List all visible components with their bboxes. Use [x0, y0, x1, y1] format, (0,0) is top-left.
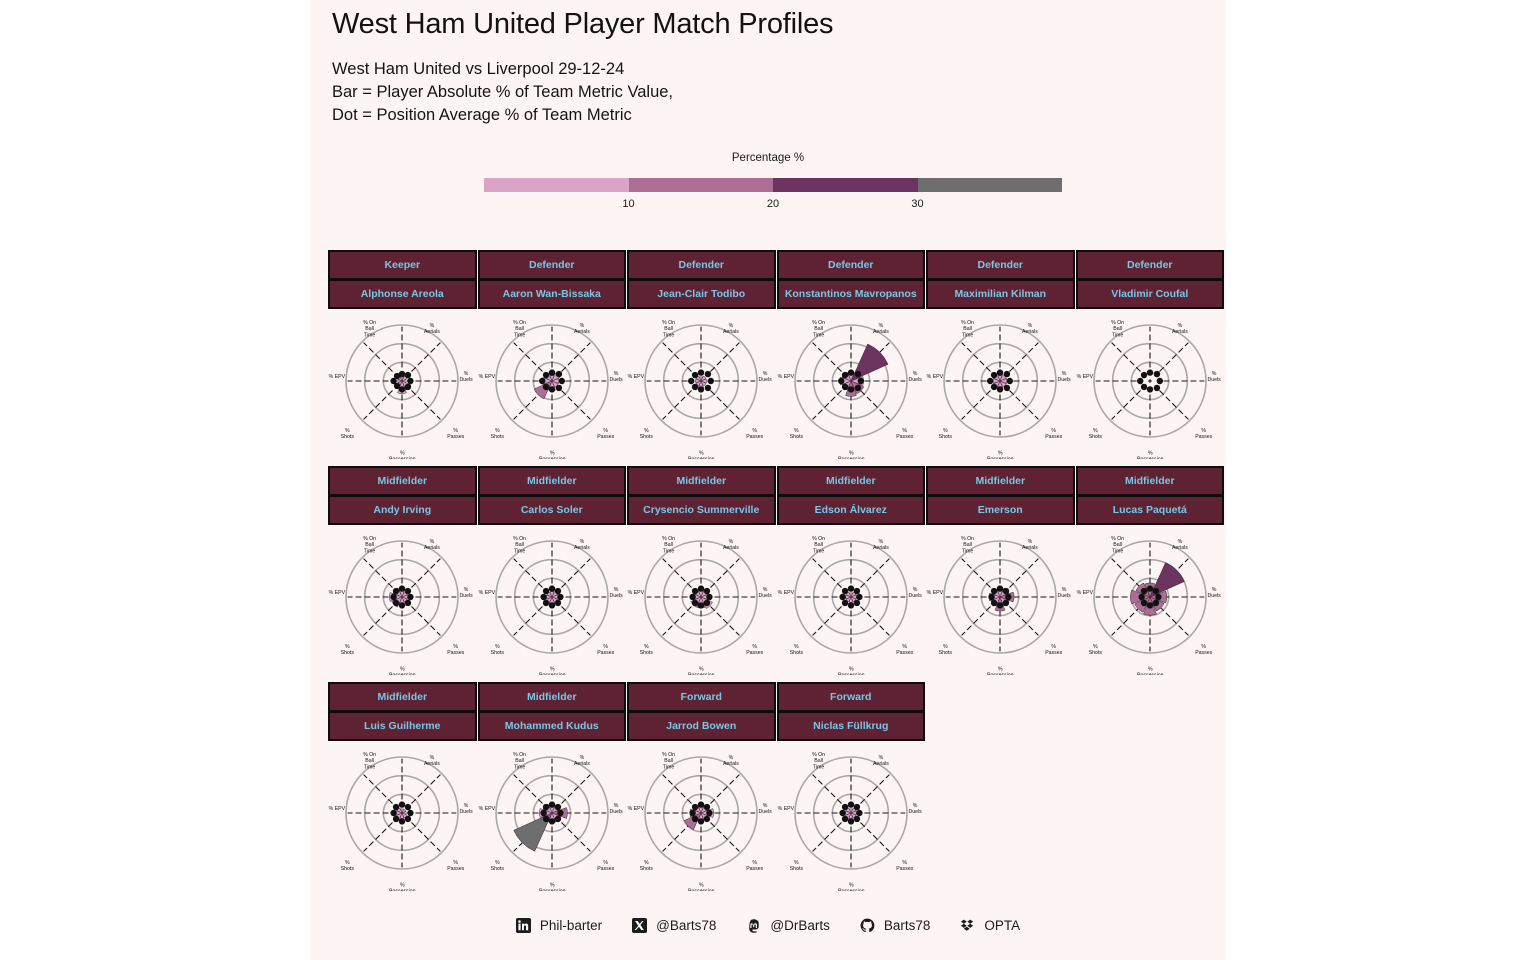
svg-text:% EPV: % EPV	[777, 806, 794, 812]
svg-text:Shots: Shots	[939, 650, 953, 656]
colorbar-tick-label: 20	[767, 198, 779, 210]
svg-text:% EPV: % EPV	[329, 590, 346, 596]
svg-text:Shots: Shots	[490, 650, 504, 656]
svg-text:Possession: Possession	[838, 457, 865, 459]
footer-item-label: @Barts78	[656, 918, 716, 933]
player-card-header: MidfielderAndy Irving	[328, 466, 477, 525]
svg-text:Aerials: Aerials	[723, 545, 739, 551]
svg-text:Aerials: Aerials	[872, 545, 888, 551]
svg-text:%: %	[1147, 451, 1152, 457]
svg-text:%: %	[699, 451, 704, 457]
svg-text:% On: % On	[662, 320, 675, 326]
svg-text:Possession: Possession	[688, 889, 715, 891]
player-card-header: ForwardJarrod Bowen	[627, 682, 776, 741]
svg-text:%: %	[1062, 587, 1067, 593]
svg-text:%: %	[430, 539, 435, 545]
page-subtitle: West Ham United vs Liverpool 29-12-24 Ba…	[332, 58, 673, 127]
svg-text:Time: Time	[663, 764, 674, 770]
svg-text:% EPV: % EPV	[329, 374, 346, 380]
svg-text:% EPV: % EPV	[1076, 590, 1093, 596]
svg-text:Ball: Ball	[814, 758, 823, 764]
svg-text:Shots: Shots	[341, 650, 355, 656]
svg-text:Passes: Passes	[597, 434, 614, 440]
svg-text:Ball: Ball	[365, 542, 374, 548]
footer-item[interactable]: OPTA	[960, 918, 1020, 933]
svg-text:Shots: Shots	[341, 866, 355, 872]
svg-text:%: %	[848, 883, 853, 889]
svg-text:% On: % On	[513, 752, 526, 758]
colorbar-segment-0	[484, 178, 629, 192]
player-position-label: Midfielder	[1078, 468, 1223, 497]
svg-text:%: %	[430, 323, 435, 329]
svg-text:Possession: Possession	[389, 457, 416, 459]
player-radar-chart: % OnBallTime%Aerials%Duels%Passes%Posses…	[478, 525, 627, 675]
svg-text:Shots: Shots	[640, 434, 654, 440]
svg-text:%: %	[878, 755, 883, 761]
svg-text:Aerials: Aerials	[573, 329, 589, 335]
player-card-header: MidfielderLucas Paquetá	[1076, 466, 1225, 525]
svg-text:% On: % On	[812, 320, 825, 326]
svg-text:Duels: Duels	[758, 593, 772, 599]
colorbar-tick-label: 30	[911, 198, 923, 210]
mastodon-icon[interactable]	[746, 918, 761, 933]
svg-text:Possession: Possession	[389, 673, 416, 675]
player-radar-chart: % OnBallTime%Aerials%Duels%Passes%Posses…	[777, 741, 926, 891]
dropbox-icon[interactable]	[960, 918, 975, 933]
svg-text:Time: Time	[812, 548, 823, 554]
svg-text:%: %	[549, 667, 554, 673]
svg-text:%: %	[729, 539, 734, 545]
svg-text:% On: % On	[961, 320, 974, 326]
svg-text:%: %	[1051, 644, 1056, 650]
svg-text:Duels: Duels	[1207, 377, 1221, 383]
player-card-header: MidfielderEmerson	[926, 466, 1075, 525]
player-card-header: DefenderVladimir Coufal	[1076, 250, 1225, 309]
svg-text:Aerials: Aerials	[1022, 545, 1038, 551]
player-name-label: Luis Guilherme	[330, 713, 475, 739]
svg-text:Ball: Ball	[963, 326, 972, 332]
svg-text:%: %	[699, 883, 704, 889]
colorbar-legend: Percentage % 102030	[310, 152, 1226, 164]
svg-text:%: %	[613, 371, 618, 377]
player-card[interactable]: DefenderAaron Wan-Bissaka% OnBallTime%Ae…	[478, 250, 627, 466]
player-card[interactable]: MidfielderEmerson% OnBallTime%Aerials%Du…	[926, 466, 1075, 682]
svg-text:Shots: Shots	[789, 434, 803, 440]
player-card[interactable]: MidfielderCrysencio Summerville% OnBallT…	[627, 466, 776, 682]
svg-text:Possession: Possession	[987, 457, 1014, 459]
player-name-label: Mohammed Kudus	[480, 713, 625, 739]
player-position-label: Midfielder	[330, 468, 475, 497]
player-card-header: MidfielderCarlos Soler	[478, 466, 627, 525]
colorbar-title: Percentage %	[310, 152, 1226, 164]
svg-text:Duels: Duels	[758, 809, 772, 815]
svg-text:% On: % On	[363, 320, 376, 326]
footer-item-label: OPTA	[984, 918, 1020, 933]
svg-text:Ball: Ball	[814, 542, 823, 548]
svg-text:Ball: Ball	[664, 326, 673, 332]
svg-text:%: %	[1211, 587, 1216, 593]
player-card-row: MidfielderLuis Guilherme% OnBallTime%Aer…	[310, 682, 1226, 898]
svg-text:Duels: Duels	[1207, 593, 1221, 599]
svg-text:% On: % On	[1111, 536, 1124, 542]
github-icon[interactable]	[860, 918, 875, 933]
player-card-row: KeeperAlphonse Areola% OnBallTime%Aerial…	[310, 250, 1226, 466]
svg-text:Duels: Duels	[609, 377, 623, 383]
svg-text:%: %	[345, 428, 350, 434]
svg-text:%: %	[793, 860, 798, 866]
svg-text:Time: Time	[1111, 548, 1122, 554]
player-card[interactable]: MidfielderMohammed Kudus% OnBallTime%Aer…	[478, 682, 627, 898]
player-radar-chart: % OnBallTime%Aerials%Duels%Passes%Posses…	[478, 741, 627, 891]
svg-text:%: %	[998, 451, 1003, 457]
svg-text:%: %	[579, 323, 584, 329]
svg-text:%: %	[793, 644, 798, 650]
player-name-label: Emerson	[928, 497, 1073, 523]
svg-text:%: %	[464, 587, 469, 593]
player-name-label: Alphonse Areola	[330, 281, 475, 307]
svg-text:% EPV: % EPV	[777, 590, 794, 596]
svg-text:%: %	[453, 860, 458, 866]
svg-text:%: %	[902, 644, 907, 650]
player-card-grid: KeeperAlphonse Areola% OnBallTime%Aerial…	[310, 250, 1226, 898]
svg-text:Ball: Ball	[515, 758, 524, 764]
colorbar-segment-1	[629, 178, 774, 192]
player-name-label: Crysencio Summerville	[629, 497, 774, 523]
svg-text:Duels: Duels	[459, 593, 473, 599]
svg-text:Duels: Duels	[609, 809, 623, 815]
svg-text:%: %	[729, 323, 734, 329]
player-card[interactable]: DefenderJean-Clair Todibo% OnBallTime%Ae…	[627, 250, 776, 466]
svg-text:%: %	[998, 667, 1003, 673]
svg-text:%: %	[912, 803, 917, 809]
player-position-label: Defender	[779, 252, 924, 281]
svg-text:Passes: Passes	[597, 650, 614, 656]
svg-text:Time: Time	[962, 332, 973, 338]
svg-text:% On: % On	[1111, 320, 1124, 326]
svg-text:% On: % On	[961, 536, 974, 542]
svg-text:% On: % On	[363, 752, 376, 758]
svg-text:Passes: Passes	[447, 650, 464, 656]
svg-text:%: %	[763, 803, 768, 809]
player-card-header: MidfielderEdson Álvarez	[777, 466, 926, 525]
svg-text:Aerials: Aerials	[1171, 545, 1187, 551]
svg-text:Possession: Possession	[389, 889, 416, 891]
player-card[interactable]: DefenderMaximilian Kilman% OnBallTime%Ae…	[926, 250, 1075, 466]
linkedin-icon[interactable]	[516, 918, 531, 933]
svg-text:%: %	[912, 371, 917, 377]
svg-text:Ball: Ball	[365, 326, 374, 332]
player-card-header: DefenderKonstantinos Mavropanos	[777, 250, 926, 309]
svg-text:Shots: Shots	[490, 434, 504, 440]
player-radar-chart: % OnBallTime%Aerials%Duels%Passes%Posses…	[627, 309, 776, 459]
svg-text:%: %	[752, 644, 757, 650]
player-card[interactable]: DefenderVladimir Coufal% OnBallTime%Aeri…	[1076, 250, 1225, 466]
svg-text:Duels: Duels	[758, 377, 772, 383]
svg-text:%: %	[453, 644, 458, 650]
player-radar-chart: % OnBallTime%Aerials%Duels%Passes%Posses…	[1076, 309, 1225, 459]
player-name-label: Jean-Clair Todibo	[629, 281, 774, 307]
svg-text:Duels: Duels	[908, 593, 922, 599]
svg-text:Shots: Shots	[1088, 434, 1102, 440]
svg-text:Time: Time	[1111, 332, 1122, 338]
svg-text:Aerials: Aerials	[573, 545, 589, 551]
svg-text:%: %	[1147, 667, 1152, 673]
svg-text:% EPV: % EPV	[478, 590, 495, 596]
player-position-label: Forward	[629, 684, 774, 713]
svg-text:% EPV: % EPV	[628, 806, 645, 812]
svg-text:%: %	[603, 860, 608, 866]
svg-text:Ball: Ball	[1113, 326, 1122, 332]
svg-text:Possession: Possession	[838, 673, 865, 675]
svg-text:% EPV: % EPV	[628, 590, 645, 596]
svg-text:Aerials: Aerials	[424, 545, 440, 551]
svg-text:Shots: Shots	[341, 434, 355, 440]
svg-text:Aerials: Aerials	[573, 761, 589, 767]
player-radar-chart: % OnBallTime%Aerials%Duels%Passes%Posses…	[627, 525, 776, 675]
svg-text:%: %	[494, 428, 499, 434]
svg-text:Passes: Passes	[1045, 434, 1062, 440]
player-radar-chart: % OnBallTime%Aerials%Duels%Passes%Posses…	[328, 309, 477, 459]
svg-text:%: %	[644, 428, 649, 434]
svg-text:Aerials: Aerials	[872, 329, 888, 335]
svg-text:%: %	[345, 644, 350, 650]
player-card[interactable]: KeeperAlphonse Areola% OnBallTime%Aerial…	[328, 250, 477, 466]
svg-text:%: %	[613, 803, 618, 809]
footer-item[interactable]: @Barts78	[632, 918, 716, 933]
svg-text:%: %	[345, 860, 350, 866]
svg-text:%: %	[848, 667, 853, 673]
svg-text:%: %	[752, 428, 757, 434]
svg-text:%: %	[943, 428, 948, 434]
svg-text:%: %	[430, 755, 435, 761]
player-radar-chart: % OnBallTime%Aerials%Duels%Passes%Posses…	[926, 525, 1075, 675]
player-position-label: Midfielder	[330, 684, 475, 713]
svg-text:Time: Time	[513, 332, 524, 338]
svg-text:Shots: Shots	[789, 650, 803, 656]
svg-text:Time: Time	[962, 548, 973, 554]
svg-text:%: %	[763, 371, 768, 377]
footer-item-label: @DrBarts	[770, 918, 829, 933]
svg-text:%: %	[943, 644, 948, 650]
player-radar-chart: % OnBallTime%Aerials%Duels%Passes%Posses…	[328, 741, 477, 891]
svg-text:Passes: Passes	[896, 650, 913, 656]
player-position-label: Midfielder	[779, 468, 924, 497]
player-name-label: Carlos Soler	[480, 497, 625, 523]
svg-text:%: %	[400, 451, 405, 457]
svg-text:Possession: Possession	[688, 457, 715, 459]
svg-text:%: %	[1092, 644, 1097, 650]
svg-text:%: %	[1051, 428, 1056, 434]
footer-item[interactable]: Barts78	[860, 918, 931, 933]
player-card-header: MidfielderCrysencio Summerville	[627, 466, 776, 525]
svg-text:Time: Time	[513, 548, 524, 554]
svg-text:%: %	[878, 323, 883, 329]
svg-text:% EPV: % EPV	[628, 374, 645, 380]
svg-text:%: %	[453, 428, 458, 434]
svg-text:Ball: Ball	[963, 542, 972, 548]
svg-text:Passes: Passes	[1045, 650, 1062, 656]
page-title: West Ham United Player Match Profiles	[332, 8, 833, 41]
footer-item[interactable]: @DrBarts	[746, 918, 829, 933]
colorbar-tick-label: 10	[622, 198, 634, 210]
svg-text:Passes: Passes	[447, 866, 464, 872]
svg-text:% EPV: % EPV	[927, 590, 944, 596]
player-name-label: Lucas Paquetá	[1078, 497, 1223, 523]
svg-text:%: %	[729, 755, 734, 761]
svg-text:Aerials: Aerials	[424, 329, 440, 335]
svg-text:%: %	[1177, 323, 1182, 329]
player-card-row: MidfielderAndy Irving% OnBallTime%Aerial…	[310, 466, 1226, 682]
svg-text:%: %	[752, 860, 757, 866]
svg-text:Aerials: Aerials	[723, 761, 739, 767]
player-position-label: Keeper	[330, 252, 475, 281]
svg-text:Aerials: Aerials	[723, 329, 739, 335]
player-position-label: Defender	[1078, 252, 1223, 281]
svg-text:Aerials: Aerials	[1171, 329, 1187, 335]
svg-text:Passes: Passes	[746, 866, 763, 872]
svg-text:%: %	[1028, 323, 1033, 329]
svg-text:Passes: Passes	[447, 434, 464, 440]
svg-text:Duels: Duels	[459, 809, 473, 815]
player-name-label: Andy Irving	[330, 497, 475, 523]
svg-text:Ball: Ball	[814, 326, 823, 332]
player-position-label: Forward	[779, 684, 924, 713]
svg-text:%: %	[549, 883, 554, 889]
svg-text:%: %	[579, 539, 584, 545]
svg-text:% On: % On	[513, 536, 526, 542]
svg-text:%: %	[494, 644, 499, 650]
svg-text:Duels: Duels	[1057, 593, 1071, 599]
svg-text:%: %	[579, 755, 584, 761]
svg-text:%: %	[763, 587, 768, 593]
player-card[interactable]: MidfielderCarlos Soler% OnBallTime%Aeria…	[478, 466, 627, 682]
player-name-label: Maximilian Kilman	[928, 281, 1073, 307]
svg-text:%: %	[644, 644, 649, 650]
player-radar-chart: % OnBallTime%Aerials%Duels%Passes%Posses…	[1076, 525, 1225, 675]
player-card[interactable]: MidfielderLucas Paquetá% OnBallTime%Aeri…	[1076, 466, 1225, 682]
player-card[interactable]: DefenderKonstantinos Mavropanos% OnBallT…	[777, 250, 926, 466]
player-card[interactable]: MidfielderAndy Irving% OnBallTime%Aerial…	[328, 466, 477, 682]
player-card-header: MidfielderLuis Guilherme	[328, 682, 477, 741]
player-radar-chart: % OnBallTime%Aerials%Duels%Passes%Posses…	[478, 309, 627, 459]
svg-text:Possession: Possession	[539, 457, 566, 459]
svg-text:%: %	[793, 428, 798, 434]
player-card-header: KeeperAlphonse Areola	[328, 250, 477, 309]
player-radar-chart: % OnBallTime%Aerials%Duels%Passes%Posses…	[627, 741, 776, 891]
svg-text:%: %	[603, 428, 608, 434]
svg-text:%: %	[1062, 371, 1067, 377]
player-card[interactable]: MidfielderLuis Guilherme% OnBallTime%Aer…	[328, 682, 477, 898]
footer-item-label: Barts78	[884, 918, 931, 933]
player-card-header: DefenderAaron Wan-Bissaka	[478, 250, 627, 309]
svg-text:%: %	[464, 371, 469, 377]
svg-text:%: %	[699, 667, 704, 673]
svg-text:%: %	[400, 667, 405, 673]
svg-text:% EPV: % EPV	[478, 806, 495, 812]
svg-text:Passes: Passes	[896, 434, 913, 440]
svg-text:Duels: Duels	[1057, 377, 1071, 383]
svg-text:Possession: Possession	[1137, 457, 1164, 459]
svg-text:Passes: Passes	[1195, 434, 1212, 440]
svg-text:% On: % On	[812, 752, 825, 758]
svg-text:Ball: Ball	[664, 758, 673, 764]
x-twitter-icon[interactable]	[632, 918, 647, 933]
player-card-header: DefenderMaximilian Kilman	[926, 250, 1075, 309]
svg-text:Ball: Ball	[664, 542, 673, 548]
player-card[interactable]: ForwardNiclas Füllkrug% OnBallTime%Aeria…	[777, 682, 926, 898]
svg-text:%: %	[1028, 539, 1033, 545]
svg-text:Duels: Duels	[459, 377, 473, 383]
svg-text:% EPV: % EPV	[478, 374, 495, 380]
footer-item-label: Phil-barter	[540, 918, 602, 933]
svg-text:%: %	[1177, 539, 1182, 545]
colorbar-segment-3	[918, 178, 1063, 192]
svg-text:Time: Time	[812, 764, 823, 770]
player-card[interactable]: MidfielderEdson Álvarez% OnBallTime%Aeri…	[777, 466, 926, 682]
colorbar-ticks: 102030	[484, 198, 1062, 214]
svg-text:Aerials: Aerials	[872, 761, 888, 767]
svg-text:% On: % On	[513, 320, 526, 326]
svg-text:%: %	[848, 451, 853, 457]
player-position-label: Midfielder	[480, 468, 625, 497]
player-position-label: Defender	[928, 252, 1073, 281]
player-card[interactable]: ForwardJarrod Bowen% OnBallTime%Aerials%…	[627, 682, 776, 898]
svg-text:Passes: Passes	[597, 866, 614, 872]
player-card-header: DefenderJean-Clair Todibo	[627, 250, 776, 309]
svg-text:%: %	[912, 587, 917, 593]
svg-text:Passes: Passes	[746, 434, 763, 440]
svg-text:Shots: Shots	[789, 866, 803, 872]
svg-text:Duels: Duels	[609, 593, 623, 599]
svg-text:% EPV: % EPV	[1076, 374, 1093, 380]
svg-text:% EPV: % EPV	[777, 374, 794, 380]
svg-text:Time: Time	[513, 764, 524, 770]
colorbar-gradient	[484, 178, 1062, 192]
svg-text:% On: % On	[812, 536, 825, 542]
svg-text:Shots: Shots	[939, 434, 953, 440]
footer-item[interactable]: Phil-barter	[516, 918, 602, 933]
svg-text:Possession: Possession	[987, 673, 1014, 675]
svg-text:Aerials: Aerials	[424, 761, 440, 767]
player-name-label: Edson Álvarez	[779, 497, 924, 523]
svg-text:%: %	[878, 539, 883, 545]
svg-text:% On: % On	[363, 536, 376, 542]
svg-text:Passes: Passes	[746, 650, 763, 656]
svg-text:Time: Time	[364, 764, 375, 770]
svg-text:%: %	[603, 644, 608, 650]
svg-text:%: %	[1211, 371, 1216, 377]
player-position-label: Defender	[480, 252, 625, 281]
colorbar-segment-2	[773, 178, 918, 192]
svg-text:Passes: Passes	[1195, 650, 1212, 656]
player-radar-chart: % OnBallTime%Aerials%Duels%Passes%Posses…	[777, 525, 926, 675]
svg-text:%: %	[902, 860, 907, 866]
svg-text:Shots: Shots	[640, 866, 654, 872]
svg-text:Passes: Passes	[896, 866, 913, 872]
svg-text:% On: % On	[662, 536, 675, 542]
player-position-label: Defender	[629, 252, 774, 281]
svg-text:%: %	[494, 860, 499, 866]
svg-text:%: %	[1201, 428, 1206, 434]
svg-text:Ball: Ball	[1113, 542, 1122, 548]
svg-text:%: %	[1201, 644, 1206, 650]
svg-text:Time: Time	[663, 548, 674, 554]
svg-text:Time: Time	[364, 548, 375, 554]
figure-canvas: West Ham United Player Match Profiles We…	[310, 0, 1226, 960]
svg-text:Shots: Shots	[640, 650, 654, 656]
svg-text:Time: Time	[364, 332, 375, 338]
svg-text:Ball: Ball	[515, 542, 524, 548]
